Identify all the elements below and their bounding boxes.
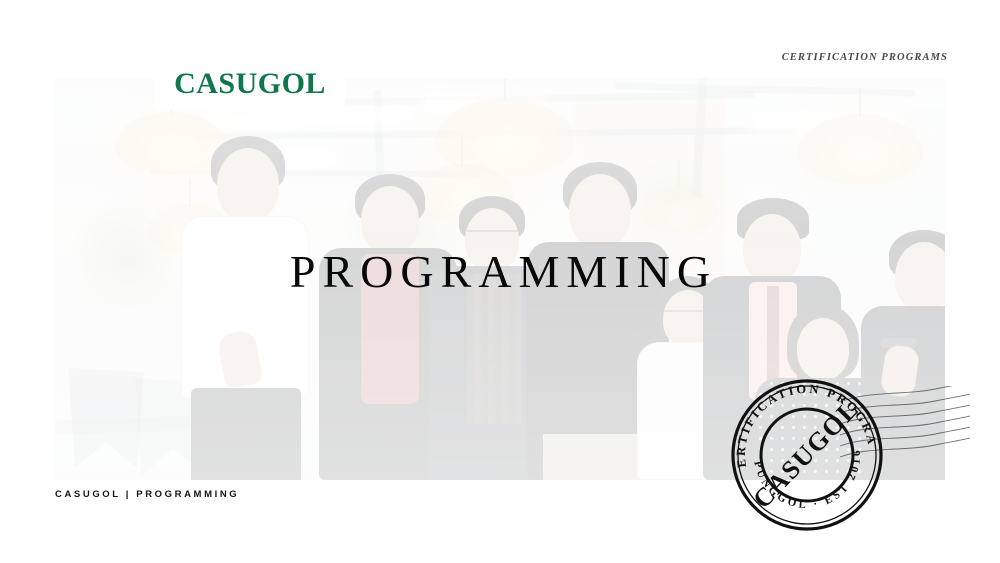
casugol-logo-text: CASUGOL	[174, 67, 326, 101]
person-silhouette	[173, 136, 323, 480]
legs	[191, 388, 301, 480]
eyeglasses	[467, 230, 519, 241]
head	[217, 148, 279, 222]
page-title: PROGRAMMING	[0, 245, 1000, 298]
head	[569, 174, 631, 248]
footer-caption: CASUGOL | PROGRAMMING	[55, 489, 239, 500]
head	[361, 186, 419, 254]
casugol-logo-box: CASUGOL	[155, 58, 345, 110]
certification-stamp: CERTIFICATION PROGRAM PUNGGOL · EST 2016…	[722, 370, 892, 540]
eyebrow-certification-programs: CERTIFICATION PROGRAMS	[782, 52, 948, 63]
slide-canvas: CERTIFICATION PROGRAMS	[0, 0, 1000, 563]
